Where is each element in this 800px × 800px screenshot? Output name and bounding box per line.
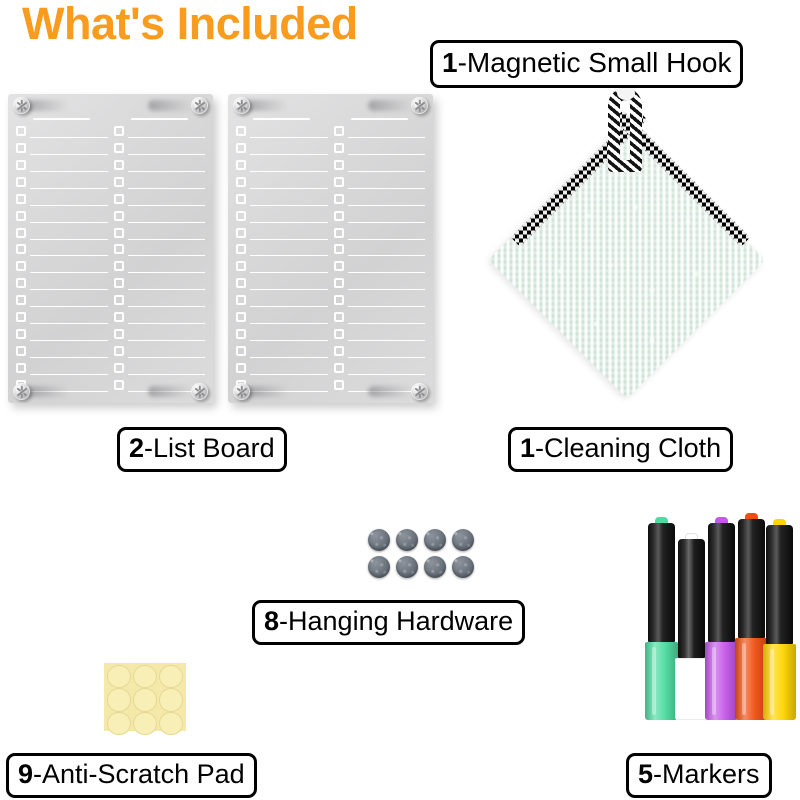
checkbox-icon xyxy=(16,261,26,271)
board-column xyxy=(114,106,206,393)
marker-pen xyxy=(648,517,675,720)
board-screw xyxy=(191,97,208,114)
board-checklist-row xyxy=(334,241,426,257)
board-checklist-row xyxy=(334,225,426,241)
checkbox-icon xyxy=(114,312,124,322)
checkbox-icon xyxy=(16,177,26,187)
marker-body xyxy=(678,539,705,658)
write-line xyxy=(250,255,328,256)
checkbox-icon xyxy=(334,363,344,373)
marker-pen xyxy=(766,519,793,720)
board-checklist-row xyxy=(334,174,426,190)
board-checklist-row xyxy=(16,326,108,342)
write-line xyxy=(30,171,108,172)
screw-glow xyxy=(24,100,76,111)
board-screw xyxy=(233,97,250,114)
checkbox-icon xyxy=(16,244,26,254)
marker-pen xyxy=(738,513,765,720)
write-line xyxy=(250,239,328,240)
checkbox-icon xyxy=(334,329,344,339)
checkbox-icon xyxy=(16,211,26,221)
checkbox-icon xyxy=(236,228,246,238)
board-checklist-row xyxy=(16,208,108,224)
checkbox-icon xyxy=(236,363,246,373)
board-checklist-row xyxy=(16,292,108,308)
board-checklist-row xyxy=(114,326,206,342)
checkbox-icon xyxy=(236,312,246,322)
checkbox-icon xyxy=(334,177,344,187)
write-line xyxy=(250,374,328,375)
magnet-disc xyxy=(396,556,418,578)
board-checklist-row xyxy=(236,360,328,376)
checkbox-icon xyxy=(334,261,344,271)
anti-scratch-dot xyxy=(107,712,130,735)
checkbox-icon xyxy=(236,194,246,204)
write-line xyxy=(250,171,328,172)
callout-qty: 2 xyxy=(129,435,144,462)
board-checklist-row xyxy=(236,275,328,291)
list-board-right xyxy=(228,94,433,403)
magnet-disc xyxy=(424,529,446,551)
write-line xyxy=(30,306,108,307)
callout-name: Markers xyxy=(662,761,760,788)
write-line xyxy=(128,289,206,290)
callout-markers: 5-Markers xyxy=(626,753,772,798)
callout-qty: 8 xyxy=(264,608,279,635)
list-board-left xyxy=(8,94,213,403)
write-line xyxy=(348,137,426,138)
checkbox-icon xyxy=(16,295,26,305)
write-line xyxy=(128,188,206,189)
marker-barrel xyxy=(675,658,708,720)
callout-name: Cleaning Cloth xyxy=(544,435,721,462)
marker-barrel xyxy=(645,642,678,720)
anti-scratch-dot xyxy=(133,665,156,688)
write-line xyxy=(348,154,426,155)
callout-name: Anti-Scratch Pad xyxy=(42,761,245,788)
board-checklist-row xyxy=(16,343,108,359)
write-line xyxy=(348,306,426,307)
board-checklist-row xyxy=(114,191,206,207)
callout-qty: 9 xyxy=(18,761,33,788)
board-checklist-row xyxy=(16,123,108,139)
board-checklist-row xyxy=(236,241,328,257)
callout-name: Hanging Hardware xyxy=(288,608,513,635)
write-line xyxy=(30,154,108,155)
checkbox-icon xyxy=(16,143,26,153)
write-line xyxy=(30,205,108,206)
checkbox-icon xyxy=(114,160,124,170)
write-line xyxy=(128,357,206,358)
callout-sep: - xyxy=(653,761,662,788)
checkbox-icon xyxy=(236,261,246,271)
anti-scratch-dot xyxy=(107,688,130,711)
write-line xyxy=(348,205,426,206)
board-checklist-row xyxy=(334,343,426,359)
write-line xyxy=(128,272,206,273)
checkbox-icon xyxy=(114,228,124,238)
write-line xyxy=(250,188,328,189)
board-checklist-row xyxy=(334,275,426,291)
anti-scratch-dot xyxy=(133,712,156,735)
write-line xyxy=(30,289,108,290)
board-checklist-row xyxy=(114,292,206,308)
board-checklist-row xyxy=(236,123,328,139)
board-columns xyxy=(228,94,433,403)
markers-group xyxy=(648,505,793,720)
checkbox-icon xyxy=(236,329,246,339)
board-checklist-row xyxy=(334,123,426,139)
write-line xyxy=(250,306,328,307)
checkbox-icon xyxy=(236,177,246,187)
checkbox-icon xyxy=(334,346,344,356)
write-line xyxy=(250,137,328,138)
anti-scratch-dot xyxy=(159,712,182,735)
write-line xyxy=(128,323,206,324)
magnet-disc xyxy=(452,529,474,551)
write-line xyxy=(250,205,328,206)
write-line xyxy=(128,306,206,307)
board-checklist-row xyxy=(236,326,328,342)
board-checklist-row xyxy=(114,360,206,376)
board-checklist-row xyxy=(16,140,108,156)
checkbox-icon xyxy=(236,278,246,288)
checkbox-icon xyxy=(114,278,124,288)
write-line xyxy=(348,222,426,223)
write-line xyxy=(348,255,426,256)
checkbox-icon xyxy=(114,194,124,204)
checkbox-icon xyxy=(334,211,344,221)
marker-barrel xyxy=(705,642,738,720)
write-line xyxy=(30,222,108,223)
board-checklist-row xyxy=(236,208,328,224)
checkbox-icon xyxy=(114,261,124,271)
board-checklist-row xyxy=(236,309,328,325)
checkbox-icon xyxy=(16,329,26,339)
write-line xyxy=(250,357,328,358)
board-checklist-row xyxy=(114,157,206,173)
checkbox-icon xyxy=(334,143,344,153)
board-checklist-row xyxy=(334,208,426,224)
magnet-disc xyxy=(396,529,418,551)
write-line xyxy=(30,239,108,240)
write-line xyxy=(250,323,328,324)
write-line xyxy=(128,340,206,341)
checkbox-icon xyxy=(236,143,246,153)
callout-sep: - xyxy=(535,435,544,462)
checkbox-icon xyxy=(114,126,124,136)
checkbox-icon xyxy=(114,380,124,390)
checkbox-icon xyxy=(334,295,344,305)
board-screw xyxy=(13,383,30,400)
board-checklist-row xyxy=(16,275,108,291)
checkbox-icon xyxy=(334,380,344,390)
board-rows xyxy=(114,123,206,393)
board-screw xyxy=(13,97,30,114)
marker-body xyxy=(708,523,735,642)
magnet-disc xyxy=(452,556,474,578)
callout-name: List Board xyxy=(153,435,275,462)
board-screw xyxy=(411,97,428,114)
board-column xyxy=(334,106,426,393)
board-rows xyxy=(334,123,426,393)
checkbox-icon xyxy=(114,346,124,356)
marker-pen xyxy=(678,533,705,720)
checkbox-icon xyxy=(334,228,344,238)
board-checklist-row xyxy=(334,360,426,376)
board-checklist-row xyxy=(114,343,206,359)
board-checklist-row xyxy=(16,258,108,274)
write-line xyxy=(250,272,328,273)
board-checklist-row xyxy=(334,191,426,207)
checkbox-icon xyxy=(16,312,26,322)
hanging-hardware-magnets xyxy=(368,529,474,578)
callout-list-board: 2-List Board xyxy=(117,427,287,472)
board-screw xyxy=(411,383,428,400)
infographic-canvas: What's Included xyxy=(0,0,800,800)
write-line xyxy=(128,154,206,155)
cloth-hanging-loop xyxy=(608,88,642,172)
checkbox-icon xyxy=(334,160,344,170)
callout-sep: - xyxy=(33,761,42,788)
checkbox-icon xyxy=(114,244,124,254)
board-checklist-row xyxy=(114,174,206,190)
checkbox-icon xyxy=(114,329,124,339)
callout-qty: 1 xyxy=(520,435,535,462)
write-line xyxy=(128,222,206,223)
board-checklist-row xyxy=(236,343,328,359)
board-rows xyxy=(236,123,328,393)
magnet-disc xyxy=(368,529,390,551)
checkbox-icon xyxy=(16,228,26,238)
checkbox-icon xyxy=(16,346,26,356)
write-line xyxy=(30,374,108,375)
write-line xyxy=(128,205,206,206)
board-checklist-row xyxy=(114,123,206,139)
write-line xyxy=(348,323,426,324)
board-checklist-row xyxy=(236,292,328,308)
checkbox-icon xyxy=(114,143,124,153)
marker-pen xyxy=(708,517,735,720)
board-checklist-row xyxy=(16,360,108,376)
checkbox-icon xyxy=(334,244,344,254)
board-checklist-row xyxy=(334,258,426,274)
anti-scratch-dot xyxy=(159,665,182,688)
write-line xyxy=(30,188,108,189)
board-checklist-row xyxy=(16,174,108,190)
write-line xyxy=(128,239,206,240)
write-line xyxy=(348,340,426,341)
write-line xyxy=(30,272,108,273)
anti-scratch-pad-sheet xyxy=(104,663,186,731)
board-checklist-row xyxy=(334,309,426,325)
write-line xyxy=(348,188,426,189)
write-line xyxy=(348,239,426,240)
board-checklist-row xyxy=(16,191,108,207)
callout-qty: 1 xyxy=(442,49,458,77)
screw-glow xyxy=(244,386,296,397)
marker-barrel xyxy=(763,644,796,720)
marker-body xyxy=(766,525,793,644)
write-line xyxy=(250,154,328,155)
callout-sep: - xyxy=(144,435,153,462)
board-checklist-row xyxy=(114,258,206,274)
write-line xyxy=(348,171,426,172)
checkbox-icon xyxy=(16,160,26,170)
write-line xyxy=(128,171,206,172)
callout-qty: 5 xyxy=(638,761,653,788)
checkbox-icon xyxy=(236,295,246,305)
checkbox-icon xyxy=(236,211,246,221)
callout-hanging-hardware: 8-Hanging Hardware xyxy=(252,600,525,645)
marker-body xyxy=(738,519,765,638)
checkbox-icon xyxy=(16,126,26,136)
board-checklist-row xyxy=(334,157,426,173)
board-column xyxy=(236,106,328,393)
checkbox-icon xyxy=(334,312,344,322)
cleaning-cloth-illustration xyxy=(495,88,760,398)
write-line xyxy=(348,272,426,273)
marker-body xyxy=(648,523,675,642)
board-checklist-row xyxy=(114,208,206,224)
callout-anti-scratch-pad: 9-Anti-Scratch Pad xyxy=(6,753,257,798)
callout-name: Magnetic Small Hook xyxy=(467,49,732,77)
page-title: What's Included xyxy=(22,0,358,50)
anti-scratch-dot xyxy=(133,688,156,711)
checkbox-icon xyxy=(16,363,26,373)
write-line xyxy=(250,340,328,341)
checkbox-icon xyxy=(16,278,26,288)
checkbox-icon xyxy=(114,295,124,305)
board-checklist-row xyxy=(114,225,206,241)
checkbox-icon xyxy=(236,346,246,356)
write-line xyxy=(30,340,108,341)
board-checklist-row xyxy=(114,140,206,156)
checkbox-icon xyxy=(114,363,124,373)
magnet-disc xyxy=(368,556,390,578)
anti-scratch-dot xyxy=(159,688,182,711)
board-checklist-row xyxy=(236,174,328,190)
write-line xyxy=(128,374,206,375)
board-screw xyxy=(233,383,250,400)
board-checklist-row xyxy=(236,140,328,156)
board-rows xyxy=(16,123,108,393)
board-checklist-row xyxy=(334,140,426,156)
write-line xyxy=(30,255,108,256)
cloth-loop-cap xyxy=(617,86,635,100)
board-columns xyxy=(8,94,213,403)
callout-sep: - xyxy=(279,608,288,635)
board-checklist-row xyxy=(334,326,426,342)
board-checklist-row xyxy=(114,275,206,291)
screw-glow xyxy=(24,386,76,397)
callout-cleaning-cloth: 1-Cleaning Cloth xyxy=(508,427,733,472)
write-line xyxy=(348,357,426,358)
checkbox-icon xyxy=(236,126,246,136)
board-checklist-row xyxy=(114,309,206,325)
checkbox-icon xyxy=(334,126,344,136)
board-checklist-row xyxy=(236,191,328,207)
checkbox-icon xyxy=(114,177,124,187)
board-checklist-row xyxy=(16,309,108,325)
board-checklist-row xyxy=(236,157,328,173)
board-checklist-row xyxy=(334,292,426,308)
board-checklist-row xyxy=(16,157,108,173)
write-line xyxy=(128,137,206,138)
write-line xyxy=(30,323,108,324)
checkbox-icon xyxy=(334,278,344,288)
board-checklist-row xyxy=(16,225,108,241)
anti-scratch-dot xyxy=(107,665,130,688)
write-line xyxy=(348,374,426,375)
callout-magnetic-small-hook: 1-Magnetic Small Hook xyxy=(430,40,743,88)
checkbox-icon xyxy=(114,211,124,221)
board-checklist-row xyxy=(236,258,328,274)
write-line xyxy=(128,255,206,256)
screw-glow xyxy=(244,100,296,111)
write-line xyxy=(30,137,108,138)
board-checklist-row xyxy=(114,241,206,257)
write-line xyxy=(30,357,108,358)
magnet-disc xyxy=(424,556,446,578)
board-checklist-row xyxy=(16,241,108,257)
checkbox-icon xyxy=(16,194,26,204)
board-checklist-row xyxy=(236,225,328,241)
board-screw xyxy=(191,383,208,400)
board-column xyxy=(16,106,108,393)
callout-sep: - xyxy=(458,49,467,77)
checkbox-icon xyxy=(236,160,246,170)
checkbox-icon xyxy=(334,194,344,204)
write-line xyxy=(250,289,328,290)
write-line xyxy=(250,222,328,223)
write-line xyxy=(348,289,426,290)
checkbox-icon xyxy=(236,244,246,254)
